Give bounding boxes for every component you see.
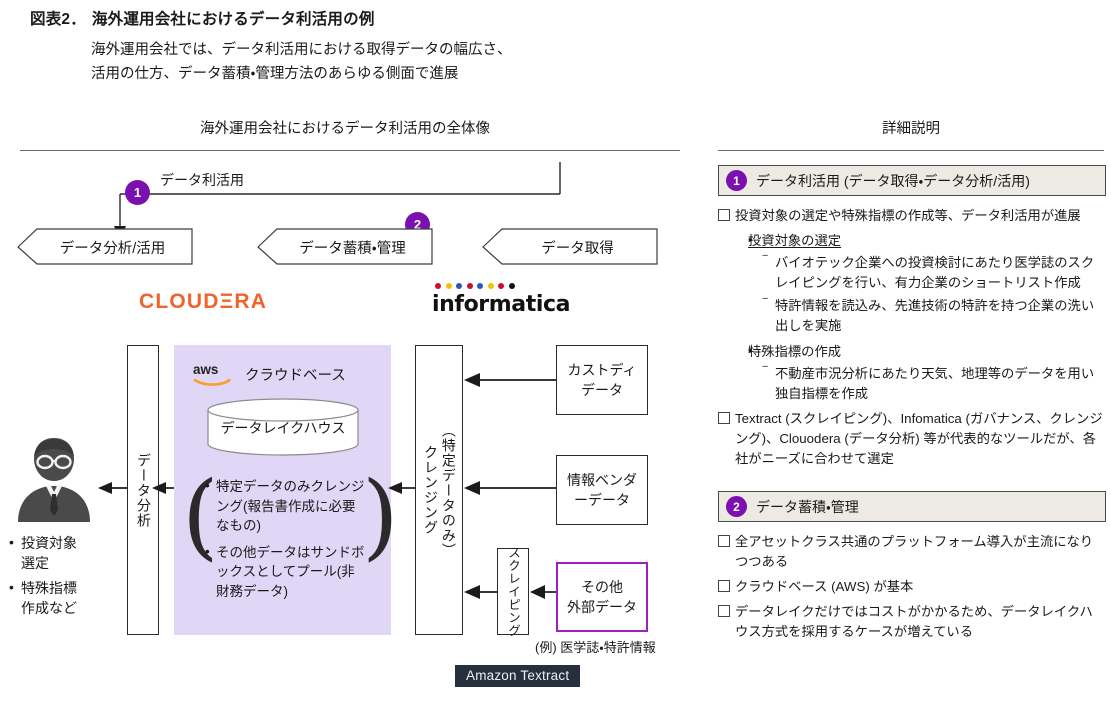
analyst-avatar-icon <box>8 432 100 524</box>
detail-subsublist: バイオテック企業への投資検討にあたり医学誌のスクレイピングを行い、有力企業のショ… <box>748 253 1106 336</box>
detail-badge-1: 1 <box>726 170 747 191</box>
detail-panel: 1 データ利活用 (データ取得・データ分析/活用) 投資対象の選定や特殊指標の作… <box>718 165 1106 647</box>
amazon-textract-badge: Amazon Textract <box>455 665 580 687</box>
figure-subtitle: 海外運用会社では、データ利活用における取得データの幅広さ、 活用の仕方、データ蓄… <box>91 39 710 86</box>
flow-step-data-analysis[interactable]: データ分析/活用 <box>18 229 193 265</box>
detail-section-header-1: 1 データ利活用 (データ取得・データ分析/活用) <box>718 165 1106 196</box>
informatica-wordmark: informatica <box>432 292 567 317</box>
analyst-output-item: 投資対象 選定 <box>8 533 128 574</box>
left-column-divider <box>20 150 680 151</box>
flow-step-data-acquisition[interactable]: データ取得 <box>483 229 658 265</box>
informatica-dot <box>435 283 441 289</box>
detail-section-title-1: データ利活用 (データ取得・データ分析/活用) <box>756 171 1030 191</box>
cloudera-logo: CLOUDΞRA <box>139 290 267 314</box>
detail-section-title-2: データ蓄積・管理 <box>756 497 859 517</box>
informatica-dot <box>488 283 494 289</box>
detail-checklist-item: 投資対象の選定や特殊指標の作成等、データ利活用が進展 <box>718 206 1106 226</box>
page-title: 図表2．海外運用会社におけるデータ利活用の例 <box>30 10 710 30</box>
right-column-divider <box>718 150 1104 151</box>
flow-step-label: データ分析/活用 <box>18 229 193 265</box>
informatica-dots-icon <box>435 283 567 289</box>
detail-subsublist-item: 特許情報を読込み、先進技術の特許を持つ企業の洗い出しを実施 <box>763 296 1106 336</box>
section-spacer <box>718 474 1106 491</box>
right-column-header: 詳細説明 <box>715 117 1107 138</box>
analyst-output-list: 投資対象 選定 特殊指標 作成など <box>8 533 128 622</box>
flow-step-label: データ蓄積・管理 <box>258 229 433 265</box>
informatica-dot <box>456 283 462 289</box>
detail-subsublist: 不動産市況分析にあたり天気、地理等のデータを用い独自指標を作成 <box>748 364 1106 404</box>
figure-subtitle-line-2: 活用の仕方、データ蓄積・管理方法のあらゆる側面で進展 <box>91 63 710 86</box>
detail-sublist: 投資対象の選定 バイオテック企業への投資検討にあたり医学誌のスクレイピングを行い… <box>718 231 1106 404</box>
figure-title-block: 図表2．海外運用会社におけるデータ利活用の例 海外運用会社では、データ利活用にお… <box>30 10 710 86</box>
informatica-dot <box>446 283 452 289</box>
informatica-dot <box>467 283 473 289</box>
detail-sublist-label: 特殊指標の作成 <box>748 342 1106 362</box>
flow-step-data-storage[interactable]: データ蓄積・管理 <box>258 229 433 265</box>
detail-sublist-item: 投資対象の選定 バイオテック企業への投資検討にあたり医学誌のスクレイピングを行い… <box>735 231 1106 336</box>
flow-badge-1: 1 <box>125 180 150 205</box>
detail-subsublist-item: バイオテック企業への投資検討にあたり医学誌のスクレイピングを行い、有力企業のショ… <box>763 253 1106 293</box>
informatica-dot <box>477 283 483 289</box>
detail-checklist-item: クラウドベース (AWS) が基本 <box>718 577 1106 597</box>
detail-sublist-label: 投資対象の選定 <box>748 231 841 251</box>
informatica-dot <box>509 283 515 289</box>
left-column-header: 海外運用会社におけるデータ利活用の全体像 <box>0 117 690 138</box>
detail-checklist-item: Textract (スクレイピング)、Infomatica (ガバナンス、クレン… <box>718 409 1106 469</box>
figure-subtitle-line-1: 海外運用会社では、データ利活用における取得データの幅広さ、 <box>91 39 710 62</box>
informatica-logo: informatica <box>432 283 567 317</box>
detail-badge-2: 2 <box>726 496 747 517</box>
detail-subsublist-item: 不動産市況分析にあたり天気、地理等のデータを用い独自指標を作成 <box>763 364 1106 404</box>
flow-arrow-label: データ利活用 <box>160 170 244 190</box>
detail-section-header-2: 2 データ蓄積・管理 <box>718 491 1106 522</box>
detail-checklist-item: データレイクだけではコストがかかるため、データレイクハウス方式を採用するケースが… <box>718 602 1106 642</box>
flow-step-label: データ取得 <box>483 229 658 265</box>
detail-checklist-item: 全アセットクラス共通のプラットフォーム導入が主流になりつつある <box>718 532 1106 572</box>
detail-sublist-item: 特殊指標の作成 不動産市況分析にあたり天気、地理等のデータを用い独自指標を作成 <box>735 342 1106 404</box>
figure-title-text: 海外運用会社におけるデータ利活用の例 <box>92 11 375 28</box>
figure-number: 図表2． <box>30 11 86 28</box>
analyst-output-item: 特殊指標 作成など <box>8 578 128 619</box>
informatica-dot <box>498 283 504 289</box>
